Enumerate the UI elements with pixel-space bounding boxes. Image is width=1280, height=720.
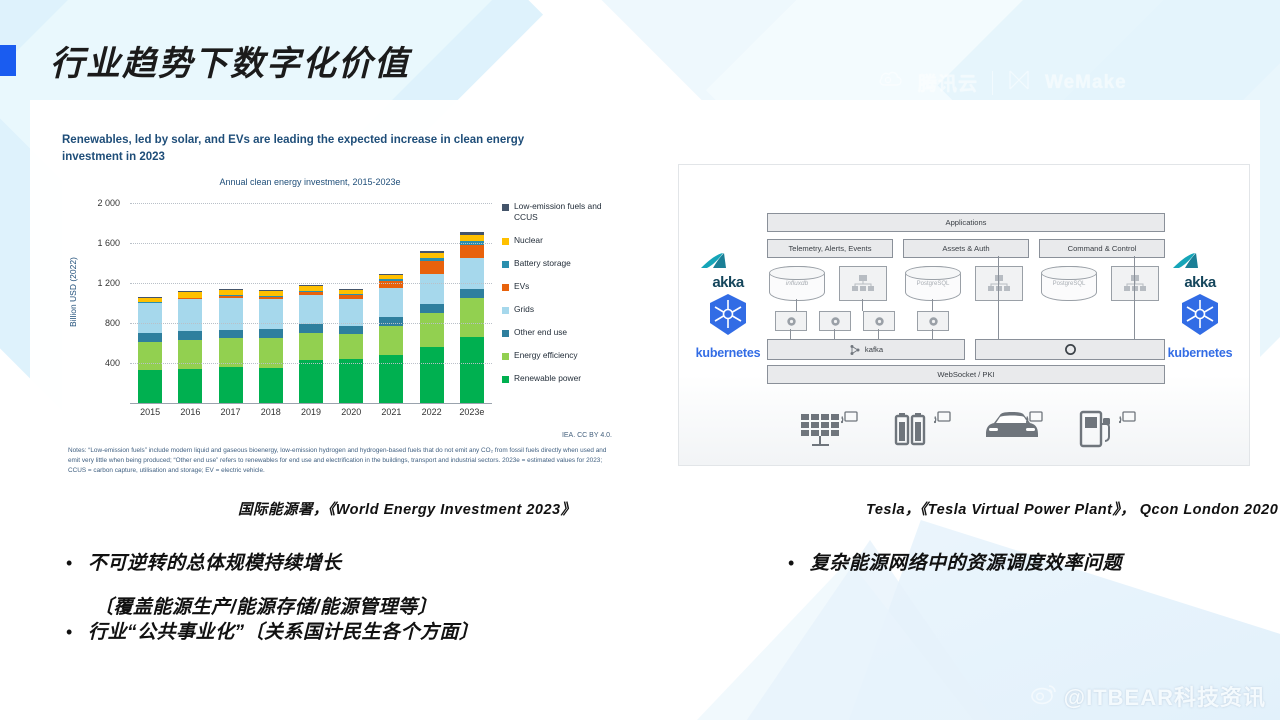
wemake-label: WeMake [1045, 72, 1127, 94]
legend-label: Nuclear [514, 235, 543, 246]
wemake-icon [1007, 68, 1031, 97]
x-axis-tick: 2016 [173, 407, 207, 417]
bar-segment [219, 330, 243, 339]
grid-line [130, 243, 492, 244]
legend-swatch [502, 376, 509, 383]
bar-segment [138, 303, 162, 333]
bar-segment [379, 317, 403, 326]
arch-worker-1 [775, 311, 807, 331]
bar-column [460, 232, 484, 403]
grid-line [130, 203, 492, 204]
solar-panel-icon [797, 408, 853, 454]
left-caption: 国际能源署，《World Energy Investment 2023》 [238, 498, 576, 519]
arch-connector [1134, 256, 1135, 339]
bar-segment [299, 295, 323, 324]
bullet-item: •行业“公共事业化”〔关系国计民生各个方面〕 [66, 619, 626, 647]
bar-column [339, 289, 363, 403]
bullet-text: 行业“公共事业化”〔关系国计民生各个方面〕 [88, 619, 479, 647]
battery-icon [890, 408, 946, 454]
chart-source: IEA. CC BY 4.0. [562, 432, 612, 439]
bar-segment [299, 333, 323, 360]
bar-segment [460, 298, 484, 337]
arch-connector [932, 329, 933, 339]
cast-signal-icon [934, 410, 952, 430]
legend-item: EVs [502, 281, 618, 292]
bullet-text: 不可逆转的总体规模持续增长 [88, 550, 342, 578]
kubernetes-label: kubernetes [1163, 346, 1237, 360]
bar-segment [460, 289, 484, 299]
y-axis-tick: 1 600 [97, 238, 120, 248]
arch-event-bus [975, 339, 1165, 360]
arch-device-row [679, 405, 1249, 457]
y-axis-label: Billion USD (2022) [68, 217, 82, 367]
legend-label: Energy efficiency [514, 350, 578, 361]
bar-segment [178, 331, 202, 340]
legend-item: Other end use [502, 327, 618, 338]
legend-swatch [502, 204, 509, 211]
arch-worker-2 [819, 311, 851, 331]
arch-lane-assets-auth: Assets & Auth [903, 239, 1029, 258]
legend-item: Battery storage [502, 258, 618, 269]
kubernetes-label: kubernetes [691, 346, 765, 360]
kubernetes-icon [1176, 326, 1224, 343]
akka-label: akka [691, 274, 765, 291]
bar-column [178, 291, 202, 403]
y-axis-tick: 1 200 [97, 278, 120, 288]
y-axis-ticks: 4008001 2001 6002 000 [84, 203, 124, 403]
car-icon [982, 408, 1038, 454]
arch-kafka-bus: kafka [767, 339, 965, 360]
legend-label: Renewable power [514, 373, 581, 384]
right-stack-logos: akka kubernetes [1163, 251, 1237, 360]
chart-notes: Notes: “Low-emission fuels” include mode… [68, 446, 614, 476]
weibo-handle: @ITBEAR科技资讯 [1064, 680, 1266, 712]
arch-postgres-store-2: PostgreSQL [1041, 266, 1097, 301]
arch-lane-telemetry: Telemetry, Alerts, Events [767, 239, 893, 258]
page-title: 行业趋势下数字化价值 [50, 36, 410, 85]
cast-signal-icon [1026, 410, 1044, 430]
arch-connector [790, 329, 791, 339]
bar-segment [219, 367, 243, 403]
bar-segment [460, 337, 484, 403]
bar-segment [420, 347, 444, 403]
x-axis-tick: 2019 [294, 407, 328, 417]
legend-item: Grids [502, 304, 618, 315]
bullet-marker: • [66, 619, 88, 645]
arch-connector [998, 256, 999, 339]
kubernetes-icon [704, 326, 752, 343]
arch-connector [834, 329, 835, 339]
arch-connector [862, 299, 863, 311]
left-stack-logos: akka kubernetes [691, 251, 765, 360]
arch-websocket-pki-bar: WebSocket / PKI [767, 365, 1165, 384]
arch-worker-3 [863, 311, 895, 331]
arch-lane-command-control: Command & Control [1039, 239, 1165, 258]
bar-segment [420, 304, 444, 314]
legend-item: Renewable power [502, 373, 618, 384]
right-caption: Tesla，《Tesla Virtual Power Plant》， Qcon … [866, 498, 1278, 519]
right-bullet-list: •复杂能源网络中的资源调度效率问题 [788, 550, 1248, 592]
arch-connector [796, 299, 797, 311]
bar-segment [379, 288, 403, 317]
x-axis-tick: 2018 [254, 407, 288, 417]
bar-segment [178, 299, 202, 331]
chart-plot-area: Billion USD (2022) 4008001 2001 6002 000… [62, 189, 618, 421]
cast-signal-icon [841, 410, 859, 430]
legend-label: Battery storage [514, 258, 571, 269]
legend-item: Low-emission fuels and CCUS [502, 201, 618, 222]
grid-line [130, 323, 492, 324]
bar-segment [379, 326, 403, 355]
arch-service-node-3 [1111, 266, 1159, 301]
bullet-item: •不可逆转的总体规模持续增长〔覆盖能源生产/能源存储/能源管理等〕 [66, 550, 626, 619]
x-axis-tick: 2022 [415, 407, 449, 417]
bullet-text: 复杂能源网络中的资源调度效率问题 [810, 550, 1122, 578]
x-axis-tick: 2023e [455, 407, 489, 417]
bar-segment [299, 360, 323, 403]
legend-swatch [502, 330, 509, 337]
bar-segment [339, 359, 363, 403]
bar-segment [420, 313, 444, 347]
bar-segment [379, 281, 403, 289]
legend-swatch [502, 284, 509, 291]
bar-segment [138, 370, 162, 403]
bar-column [299, 285, 323, 403]
akka-icon [1171, 258, 1229, 275]
bar-segment [178, 340, 202, 369]
bar-column [219, 289, 243, 403]
x-axis-tick: 2021 [374, 407, 408, 417]
chart-subtitle: Annual clean energy investment, 2015-202… [90, 177, 530, 187]
legend-label: Low-emission fuels and CCUS [514, 201, 618, 222]
arch-postgres-store-1: PostgreSQL [905, 266, 961, 301]
bar-segment [420, 261, 444, 274]
left-bullet-list: •不可逆转的总体规模持续增长〔覆盖能源生产/能源存储/能源管理等〕•行业“公共事… [66, 550, 626, 660]
bar-segment [339, 334, 363, 359]
y-axis-tick: 800 [105, 318, 120, 328]
arch-applications-bar: Applications [767, 213, 1165, 232]
y-axis-tick: 2 000 [97, 198, 120, 208]
chart-legend: Low-emission fuels and CCUSNuclearBatter… [502, 201, 618, 396]
legend-swatch [502, 238, 509, 245]
bar-segment [259, 299, 283, 329]
y-axis-tick: 400 [105, 358, 120, 368]
x-axis-ticks: 201520162017201820192020202120222023e [130, 407, 492, 417]
legend-label: Grids [514, 304, 534, 315]
bullet-marker: • [66, 550, 88, 576]
brand-watermark: 腾讯云 WeMake [878, 68, 1127, 97]
watermark-divider [992, 71, 993, 95]
title-accent-block [0, 45, 16, 76]
charger-icon [1075, 408, 1131, 454]
arch-worker-4 [917, 311, 949, 331]
bullet-marker: • [788, 550, 810, 576]
bar-segment [339, 326, 363, 334]
tencent-cloud-icon [878, 69, 904, 96]
arch-influxdb-store: influxdb [769, 266, 825, 301]
bar-column [379, 274, 403, 404]
legend-label: Other end use [514, 327, 567, 338]
chart-headline: Renewables, led by solar, and EVs are le… [62, 132, 562, 165]
chart-plot [130, 203, 492, 404]
bullet-subtext: 〔覆盖能源生产/能源存储/能源管理等〕 [94, 592, 626, 619]
bar-segment [299, 324, 323, 334]
legend-swatch [502, 261, 509, 268]
bar-segment [138, 333, 162, 342]
grid-line [130, 283, 492, 284]
legend-label: EVs [514, 281, 529, 292]
bar-segment [259, 329, 283, 338]
bar-segment [420, 274, 444, 304]
weibo-watermark: @ITBEAR科技资讯 [1031, 680, 1266, 712]
grid-line [130, 363, 492, 364]
x-axis-tick: 2017 [214, 407, 248, 417]
weibo-icon [1031, 683, 1057, 710]
arch-service-node-2 [975, 266, 1023, 301]
legend-swatch [502, 353, 509, 360]
chart-bars [130, 203, 492, 403]
legend-item: Nuclear [502, 235, 618, 246]
legend-swatch [502, 307, 509, 314]
x-axis-tick: 2015 [133, 407, 167, 417]
bar-segment [138, 342, 162, 370]
bar-column [138, 297, 162, 403]
cast-signal-icon [1119, 410, 1137, 430]
akka-icon [699, 258, 757, 275]
tencent-cloud-label: 腾讯云 [918, 69, 978, 96]
akka-label: akka [1163, 274, 1237, 291]
x-axis-tick: 2020 [334, 407, 368, 417]
arch-connector [932, 299, 933, 311]
iea-chart-card: Renewables, led by solar, and EVs are le… [62, 132, 618, 480]
tesla-vpp-architecture-card: akka kubernetes [678, 164, 1250, 466]
arch-connector [878, 329, 879, 339]
legend-item: Energy efficiency [502, 350, 618, 361]
arch-service-node-1 [839, 266, 887, 301]
bar-column [259, 290, 283, 403]
bar-segment [259, 368, 283, 403]
bar-segment [178, 369, 202, 403]
bar-segment [460, 245, 484, 258]
bullet-item: •复杂能源网络中的资源调度效率问题 [788, 550, 1248, 578]
bar-segment [219, 298, 243, 330]
bar-segment [339, 299, 363, 326]
bar-column [420, 251, 444, 403]
